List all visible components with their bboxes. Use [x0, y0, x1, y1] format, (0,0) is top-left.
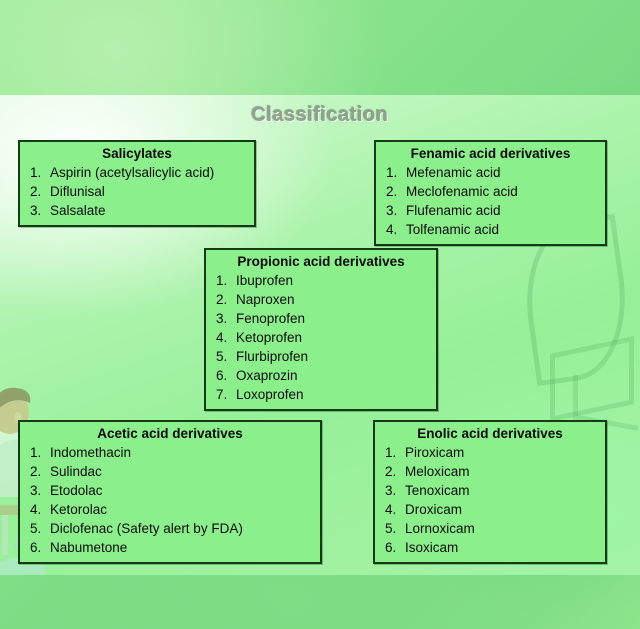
list-item: 4.Ketorolac	[26, 500, 314, 519]
classification-box-fenamic: Fenamic acid derivatives 1.Mefenamic aci…	[374, 140, 607, 246]
list-item: 5.Lornoxicam	[381, 519, 599, 538]
classification-box-salicylates: Salicylates 1.Aspirin (acetylsalicylic a…	[18, 140, 256, 227]
list-item: 5.Diclofenac (Safety alert by FDA)	[26, 519, 314, 538]
classification-box-acetic: Acetic acid derivatives 1.Indomethacin 2…	[18, 420, 322, 564]
list-item-number: 1.	[26, 163, 50, 182]
box-heading: Salicylates	[26, 145, 248, 162]
list-item-number: 1.	[382, 163, 406, 182]
list-item: 6.Isoxicam	[381, 538, 599, 557]
list-item-label: Oxaprozin	[236, 366, 298, 385]
box-heading: Propionic acid derivatives	[212, 253, 430, 270]
list-item-label: Meclofenamic acid	[406, 182, 518, 201]
list-item-number: 1.	[26, 443, 50, 462]
list-item: 4.Droxicam	[381, 500, 599, 519]
list-item-number: 4.	[381, 500, 405, 519]
list-item-label: Piroxicam	[405, 443, 464, 462]
list-item: 1.Mefenamic acid	[382, 163, 599, 182]
list-item: 4.Tolfenamic acid	[382, 220, 599, 239]
list-item-label: Aspirin (acetylsalicylic acid)	[50, 163, 214, 182]
classification-box-enolic: Enolic acid derivatives 1.Piroxicam 2.Me…	[373, 420, 607, 564]
list-item-number: 4.	[382, 220, 406, 239]
list-item-number: 2.	[381, 462, 405, 481]
list-item-number: 3.	[26, 481, 50, 500]
box-item-list: 1.Aspirin (acetylsalicylic acid) 2.Diflu…	[26, 163, 248, 220]
box-item-list: 1.Mefenamic acid 2.Meclofenamic acid 3.F…	[382, 163, 599, 239]
photo-frame: Classification Salicylates 1.Aspirin (ac…	[0, 0, 640, 629]
list-item: 3.Fenoprofen	[212, 309, 430, 328]
list-item-label: Diclofenac (Safety alert by FDA)	[50, 519, 243, 538]
list-item: 1.Aspirin (acetylsalicylic acid)	[26, 163, 248, 182]
list-item-number: 2.	[26, 462, 50, 481]
box-item-list: 1.Indomethacin 2.Sulindac 3.Etodolac 4.K…	[26, 443, 314, 557]
list-item-label: Sulindac	[50, 462, 102, 481]
page-title: Classification	[0, 104, 640, 127]
list-item: 2.Meloxicam	[381, 462, 599, 481]
list-item: 2.Naproxen	[212, 290, 430, 309]
list-item-label: Ibuprofen	[236, 271, 293, 290]
list-item-number: 6.	[381, 538, 405, 557]
list-item-number: 1.	[381, 443, 405, 462]
list-item: 3.Flufenamic acid	[382, 201, 599, 220]
list-item-label: Flufenamic acid	[406, 201, 501, 220]
list-item-label: Loxoprofen	[236, 385, 304, 404]
list-item-label: Droxicam	[405, 500, 462, 519]
list-item-label: Etodolac	[50, 481, 103, 500]
list-item-number: 2.	[382, 182, 406, 201]
list-item: 6.Oxaprozin	[212, 366, 430, 385]
slide-canvas: Classification Salicylates 1.Aspirin (ac…	[0, 95, 640, 575]
list-item-label: Indomethacin	[50, 443, 131, 462]
list-item-number: 2.	[212, 290, 236, 309]
list-item: 3.Tenoxicam	[381, 481, 599, 500]
list-item-number: 2.	[26, 182, 50, 201]
list-item-label: Flurbiprofen	[236, 347, 308, 366]
box-item-list: 1.Ibuprofen 2.Naproxen 3.Fenoprofen 4.Ke…	[212, 271, 430, 404]
list-item-number: 6.	[212, 366, 236, 385]
list-item: 7.Loxoprofen	[212, 385, 430, 404]
list-item: 3.Etodolac	[26, 481, 314, 500]
list-item-number: 1.	[212, 271, 236, 290]
list-item: 4.Ketoprofen	[212, 328, 430, 347]
list-item-label: Naproxen	[236, 290, 295, 309]
list-item-label: Lornoxicam	[405, 519, 475, 538]
list-item: 2.Meclofenamic acid	[382, 182, 599, 201]
list-item-number: 5.	[26, 519, 50, 538]
list-item-number: 7.	[212, 385, 236, 404]
list-item-number: 3.	[381, 481, 405, 500]
list-item-label: Ketorolac	[50, 500, 107, 519]
box-watermark-icon	[550, 336, 634, 422]
box-item-list: 1.Piroxicam 2.Meloxicam 3.Tenoxicam 4.Dr…	[381, 443, 599, 557]
list-item: 1.Indomethacin	[26, 443, 314, 462]
list-item: 6.Nabumetone	[26, 538, 314, 557]
list-item-number: 5.	[381, 519, 405, 538]
box-heading: Fenamic acid derivatives	[382, 145, 599, 162]
list-item-label: Nabumetone	[50, 538, 127, 557]
list-item-label: Fenoprofen	[236, 309, 305, 328]
list-item-number: 3.	[212, 309, 236, 328]
list-item-label: Mefenamic acid	[406, 163, 501, 182]
list-item-number: 3.	[26, 201, 50, 220]
list-item-number: 3.	[382, 201, 406, 220]
list-item-number: 5.	[212, 347, 236, 366]
list-item: 2.Diflunisal	[26, 182, 248, 201]
list-item-number: 6.	[26, 538, 50, 557]
classification-box-propionic: Propionic acid derivatives 1.Ibuprofen 2…	[204, 248, 438, 411]
list-item-label: Salsalate	[50, 201, 106, 220]
list-item-label: Tolfenamic acid	[406, 220, 499, 239]
list-item-label: Diflunisal	[50, 182, 105, 201]
list-item-label: Isoxicam	[405, 538, 458, 557]
list-item-label: Tenoxicam	[405, 481, 470, 500]
list-item: 1.Piroxicam	[381, 443, 599, 462]
list-item: 1.Ibuprofen	[212, 271, 430, 290]
list-item-number: 4.	[26, 500, 50, 519]
list-item-number: 4.	[212, 328, 236, 347]
list-item: 2.Sulindac	[26, 462, 314, 481]
box-heading: Enolic acid derivatives	[381, 425, 599, 442]
list-item: 5.Flurbiprofen	[212, 347, 430, 366]
list-item-label: Ketoprofen	[236, 328, 302, 347]
list-item: 3.Salsalate	[26, 201, 248, 220]
list-item-label: Meloxicam	[405, 462, 470, 481]
box-heading: Acetic acid derivatives	[26, 425, 314, 442]
